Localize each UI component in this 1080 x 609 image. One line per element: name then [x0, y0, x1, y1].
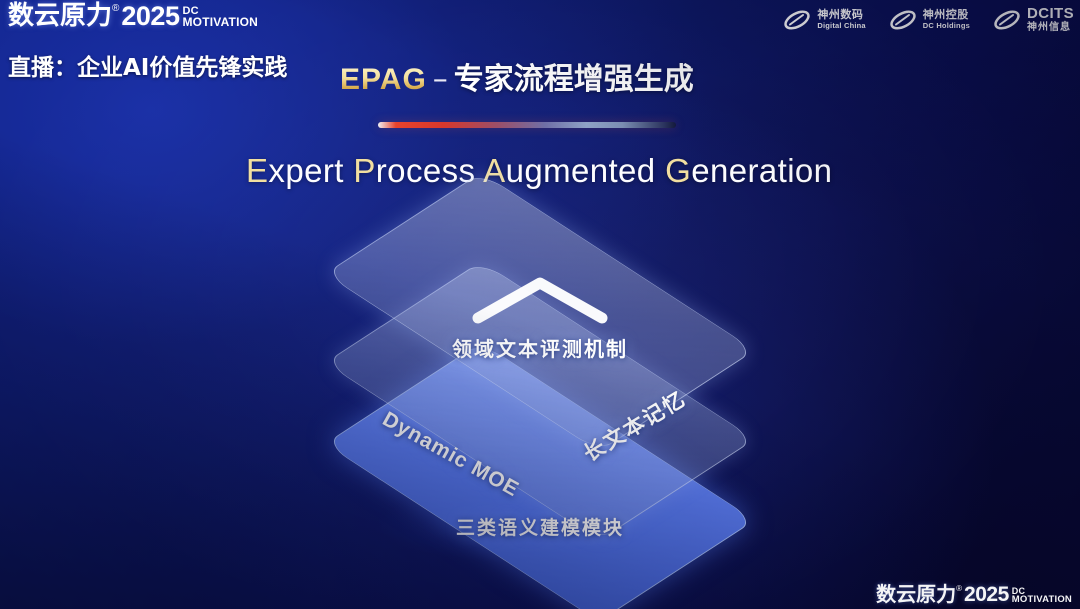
- chevron-up-icon[interactable]: [468, 272, 612, 328]
- subtitle-rest-augmented: ugmented: [506, 152, 656, 189]
- partner-text: DCITS 神州信息: [1027, 6, 1074, 33]
- brand-logo: 数云原力 ® 2025 DC MOTIVATION: [8, 3, 258, 30]
- footer-brand-year: 2025: [964, 584, 1009, 605]
- title-divider: [378, 122, 676, 128]
- partner-text: 神州数码 Digital China: [817, 9, 865, 30]
- partner-logo-digital-china: 神州数码 Digital China: [782, 8, 865, 32]
- title-dash: –: [433, 62, 448, 97]
- registered-mark: ®: [112, 4, 119, 14]
- brand-dc-line2: MOTIVATION: [182, 16, 258, 29]
- subtitle-rest-process: rocess: [376, 152, 476, 189]
- page-subtitle: Expert Process Augmented Generation: [246, 152, 832, 190]
- partner-logo-dcits: DCITS 神州信息: [992, 6, 1074, 33]
- partner-name-en: DCITS: [1027, 6, 1074, 21]
- partner-logo-dc-holdings: 神州控股 DC Holdings: [888, 8, 970, 32]
- partner-name-cn: 神州信息: [1027, 23, 1074, 33]
- partner-logo-group: 神州数码 Digital China 神州控股 DC Holdings: [782, 6, 1074, 33]
- brand-year: 2025: [121, 3, 179, 30]
- swoosh-icon: [992, 8, 1022, 32]
- footer-brand-dc-motivation: DC MOTIVATION: [1012, 587, 1072, 605]
- partner-text: 神州控股 DC Holdings: [923, 9, 970, 30]
- page-title: EPAG–专家流程增强生成: [340, 54, 694, 98]
- subtitle-rest-expert: xpert: [268, 152, 343, 189]
- partner-name-cn: 神州控股: [923, 9, 970, 20]
- live-broadcast-label: 直播：企业AI价值先锋实践: [8, 48, 287, 82]
- slide-canvas: 数云原力 ® 2025 DC MOTIVATION 直播：企业AI价值先锋实践 …: [0, 0, 1080, 609]
- partner-name-cn: 神州数码: [817, 9, 865, 20]
- stack-layer-bottom-label: 三类语义建模模块: [456, 513, 624, 540]
- subtitle-cap-g: G: [665, 152, 691, 189]
- title-chinese: 专家流程增强生成: [454, 62, 694, 97]
- title-acronym: EPAG: [340, 63, 427, 96]
- swoosh-icon: [888, 8, 918, 32]
- footer-brand-dc-line2: MOTIVATION: [1012, 595, 1072, 605]
- partner-name-en: Digital China: [817, 22, 865, 30]
- stack-layer-top-label: 领域文本评测机制: [452, 333, 628, 362]
- footer-brand-name-cn: 数云原力: [876, 584, 956, 604]
- subtitle-cap-p: P: [353, 152, 375, 189]
- partner-name-en: DC Holdings: [923, 22, 970, 30]
- swoosh-icon: [782, 8, 812, 32]
- brand-dc-motivation: DC MOTIVATION: [182, 6, 258, 29]
- footer-registered-mark: ®: [956, 585, 962, 593]
- subtitle-cap-e: E: [246, 152, 268, 189]
- subtitle-rest-generation: eneration: [691, 152, 832, 189]
- footer-brand-logo: 数云原力 ® 2025 DC MOTIVATION: [876, 584, 1072, 605]
- brand-name-cn: 数云原力: [8, 3, 112, 29]
